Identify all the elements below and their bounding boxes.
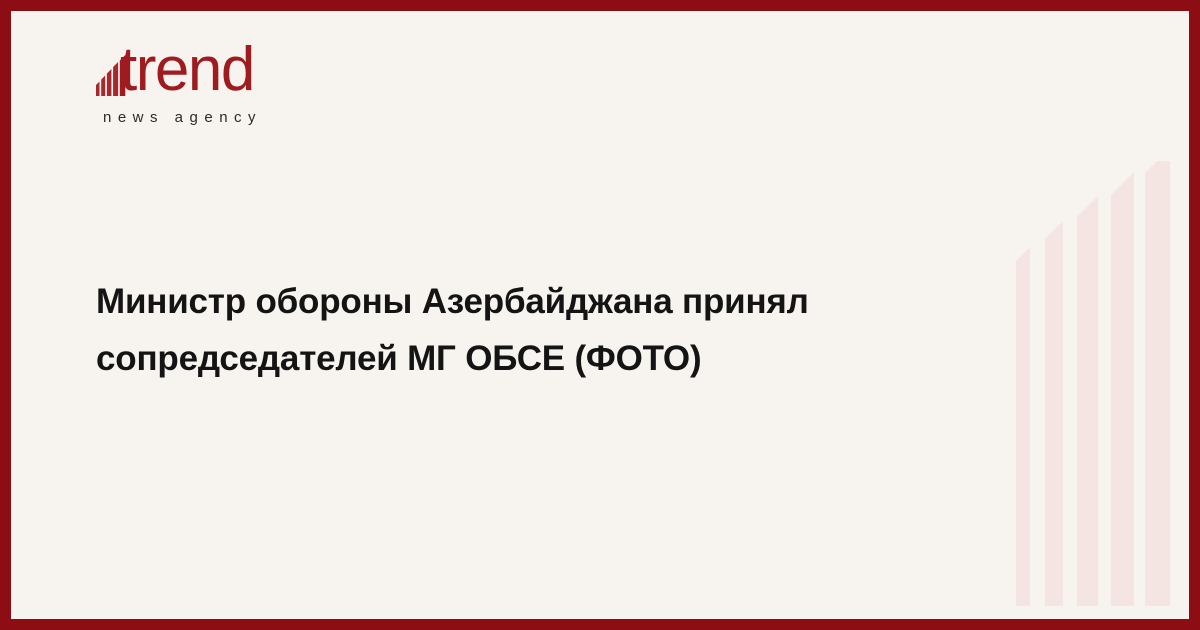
- logo-bar-2: [101, 76, 105, 97]
- headline-line-1: Министр обороны Азербайджана принял: [96, 273, 966, 330]
- watermark-bar-2: [1045, 221, 1063, 606]
- logo-bar-1: [96, 82, 100, 97]
- watermark-bar-1: [1016, 247, 1030, 606]
- watermark-bar-4: [1111, 172, 1134, 606]
- headline: Министр обороны Азербайджана принял сопр…: [96, 273, 966, 387]
- social-share-card: trend news agency Министр обороны Азерба…: [0, 0, 1200, 630]
- watermark-bar-3: [1077, 196, 1098, 606]
- site-logo[interactable]: trend news agency: [96, 41, 436, 141]
- logo-bar-3: [107, 69, 112, 96]
- logo-tagline: news agency: [103, 109, 262, 127]
- rising-bars-watermark: [1008, 161, 1178, 606]
- watermark-bar-5: [1145, 161, 1170, 606]
- logo-wordmark: trend: [120, 39, 254, 101]
- headline-line-2: сопредседателей МГ ОБСЕ (ФОТО): [96, 330, 966, 387]
- logo-bar-4: [113, 62, 118, 96]
- card-inner-panel: trend news agency Министр обороны Азерба…: [11, 11, 1189, 619]
